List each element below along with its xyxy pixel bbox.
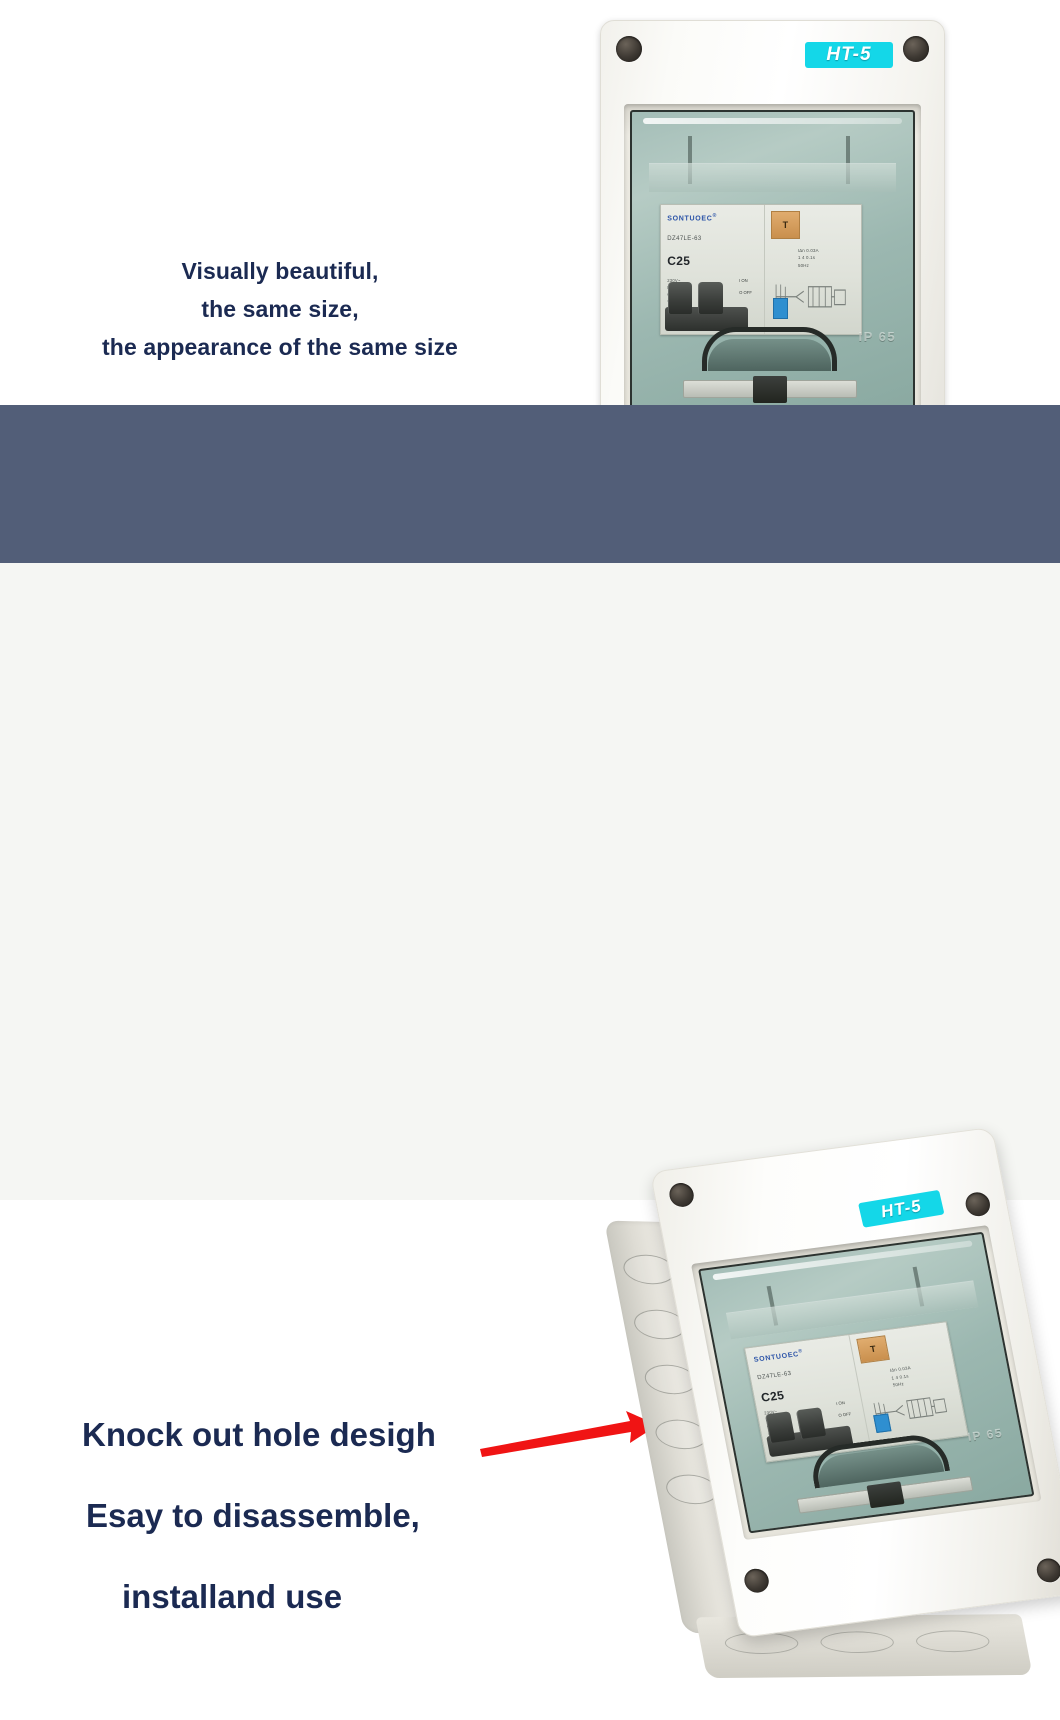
window-frame: SONTUOEC® DZ47LE-63 C25 230V~ IEC61009-1…	[624, 104, 921, 418]
reset-indicator-icon	[873, 1413, 892, 1433]
test-button[interactable]: T	[856, 1335, 890, 1364]
breaker-toggle-lever[interactable]	[765, 1411, 795, 1442]
rcd-spec-lines: I∆n 0.03A 1 4 0.1s 50Hz	[798, 247, 819, 270]
breaker-rcd-module: T I∆n 0.03A 1 4 0.1s 50Hz	[850, 1322, 968, 1447]
bottom-caption-block: Knock out hole desigh Esay to disassembl…	[70, 1418, 540, 1613]
knock-out-hole	[818, 1631, 895, 1653]
rcd-spec-lines: I∆n 0.03A 1 4 0.1s 50Hz	[889, 1364, 914, 1389]
breaker-model-label: DZ47LE-63	[667, 236, 701, 242]
circuit-breaker-module: SONTUOEC® DZ47LE-63 C25 230V~ IEC61009-1…	[744, 1321, 969, 1462]
breaker-toggle-lever[interactable]	[698, 282, 723, 314]
bottom-caption-line-2: Esay to disassemble,	[86, 1499, 540, 1532]
cover-latch-knob[interactable]	[753, 376, 787, 403]
cover-gloss-highlight	[713, 1241, 973, 1281]
breaker-toggle-lever[interactable]	[668, 282, 693, 314]
product-image-angled-view: HT-5 SONTUOEC® DZ47LE-63 C25	[640, 1135, 1055, 1695]
breaker-toggle-lever[interactable]	[796, 1407, 826, 1438]
product-detail-page: Visually beautiful, the same size, the a…	[0, 0, 1060, 1200]
ht5-model-label: HT-5	[858, 1190, 944, 1228]
cover-gloss-highlight	[643, 118, 902, 124]
bottom-section: Knock out hole desigh Esay to disassembl…	[0, 563, 1060, 1200]
mounting-screw-icon	[903, 36, 929, 62]
test-button[interactable]: T	[771, 211, 800, 239]
breaker-rating-label: C25	[760, 1388, 785, 1405]
mounting-screw-icon	[1035, 1557, 1060, 1584]
bottom-caption-line-3: installand use	[122, 1580, 540, 1613]
breaker-rating-label: C25	[667, 254, 690, 268]
rcd-frequency: 50Hz	[892, 1379, 914, 1389]
ip-rating-mark: IP 65	[966, 1425, 1004, 1443]
breaker-brand-label: SONTUOEC®	[667, 213, 717, 222]
cover-handle-fill	[708, 339, 832, 372]
transparent-cover: SONTUOEC® DZ47LE-63 C25 230V~ IEC61009-1…	[698, 1232, 1034, 1534]
top-caption-line-3: the appearance of the same size	[55, 328, 505, 366]
section-divider-band	[0, 405, 1060, 563]
din-rail-shroud	[649, 163, 896, 193]
transparent-cover: SONTUOEC® DZ47LE-63 C25 230V~ IEC61009-1…	[630, 110, 915, 412]
top-caption-block: Visually beautiful, the same size, the a…	[55, 252, 505, 366]
breaker-toggle-zone[interactable]	[665, 279, 748, 331]
top-caption-line-2: the same size,	[55, 290, 505, 328]
breaker-rcd-module: T I∆n 0.03A 1 4 0.1s 50Hz	[765, 205, 861, 334]
ip-rating-mark: IP 65	[859, 329, 897, 344]
bottom-caption-line-1: Knock out hole desigh	[82, 1418, 540, 1451]
rcd-trip-values: 1 4 0.1s	[798, 254, 819, 262]
breaker-brand-label: SONTUOEC®	[753, 1348, 804, 1364]
window-frame: SONTUOEC® DZ47LE-63 C25 230V~ IEC61009-1…	[691, 1225, 1042, 1540]
cover-latch-knob[interactable]	[866, 1481, 904, 1509]
ht5-model-label: HT-5	[805, 42, 893, 68]
angled-stage: HT-5 SONTUOEC® DZ47LE-63 C25	[588, 1116, 1060, 1720]
mounting-screw-icon	[667, 1182, 695, 1209]
breaker-left-pole: SONTUOEC® DZ47LE-63 C25 230V~ IEC61009-1…	[661, 205, 765, 334]
breaker-model-label: DZ47LE-63	[757, 1370, 792, 1380]
rcd-residual-current: I∆n 0.03A	[798, 247, 819, 255]
rcd-frequency: 50Hz	[798, 262, 819, 270]
mounting-screw-icon	[964, 1191, 992, 1218]
knock-out-hole	[914, 1630, 991, 1652]
top-caption-line-1: Visually beautiful,	[55, 252, 505, 290]
mounting-screw-icon	[742, 1567, 770, 1594]
mounting-screw-icon	[616, 36, 642, 62]
top-section: Visually beautiful, the same size, the a…	[0, 0, 1060, 405]
reset-indicator-icon	[773, 298, 788, 319]
circuit-breaker-module: SONTUOEC® DZ47LE-63 C25 230V~ IEC61009-1…	[660, 204, 862, 335]
